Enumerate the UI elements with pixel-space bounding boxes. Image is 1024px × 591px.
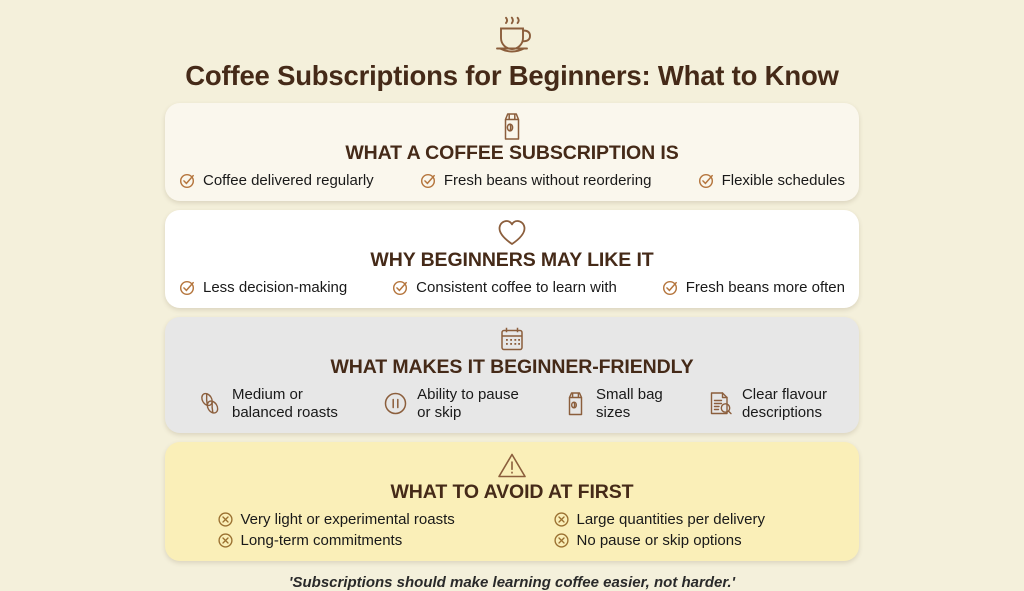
card-what-to-avoid-at-first: WHAT TO AVOID AT FIRST Very light or exp… xyxy=(165,442,859,561)
list-item: Consistent coffee to learn with xyxy=(392,279,617,296)
coffee-beans-icon xyxy=(197,390,224,417)
list-item: Fresh beans without reordering xyxy=(420,172,652,189)
x-circle-icon xyxy=(217,532,234,549)
check-circle-icon xyxy=(698,172,715,189)
card-items-row: Less decision-making Consistent coffee t… xyxy=(179,279,845,296)
list-item-label: Very light or experimental roasts xyxy=(241,511,455,528)
card-what-makes-it-beginner-friendly: WHAT MAKES IT BEGINNER-FRIENDLY xyxy=(165,317,859,433)
list-item-label: Ability to pause or skip xyxy=(417,386,519,421)
coffee-bag-icon xyxy=(498,111,526,141)
check-circle-icon xyxy=(179,172,196,189)
list-item: Less decision-making xyxy=(179,279,347,296)
list-item-label: Clear flavour descriptions xyxy=(742,386,827,421)
heart-icon xyxy=(496,218,528,248)
card-why-beginners-may-like-it: WHY BEGINNERS MAY LIKE IT Less decision-… xyxy=(165,210,859,308)
small-bag-icon xyxy=(563,390,588,417)
check-circle-icon xyxy=(420,172,437,189)
footer-quote: 'Subscriptions should make learning coff… xyxy=(289,574,735,591)
check-circle-icon xyxy=(662,279,679,296)
list-item-label: Fresh beans without reordering xyxy=(444,172,652,189)
card-items-row: Medium or balanced roasts Ability to pau… xyxy=(179,386,845,421)
list-item: No pause or skip options xyxy=(553,532,808,549)
check-circle-icon xyxy=(392,279,409,296)
list-item: Flexible schedules xyxy=(698,172,845,189)
calendar-icon xyxy=(497,325,527,355)
list-item: Long-term commitments xyxy=(217,532,547,549)
list-item: Ability to pause or skip xyxy=(382,386,519,421)
check-circle-icon xyxy=(179,279,196,296)
page-title: Coffee Subscriptions for Beginners: What… xyxy=(185,60,838,92)
card-what-a-coffee-subscription-is: WHAT A COFFEE SUBSCRIPTION IS Coffee del… xyxy=(165,103,859,201)
card-items-grid: Very light or experimental roasts Large … xyxy=(217,511,808,549)
list-item: Medium or balanced roasts xyxy=(197,386,338,421)
list-item: Coffee delivered regularly xyxy=(179,172,374,189)
list-item: Fresh beans more often xyxy=(662,279,845,296)
header: Coffee Subscriptions for Beginners: What… xyxy=(185,12,838,92)
document-search-icon xyxy=(707,390,734,417)
infographic-page: Coffee Subscriptions for Beginners: What… xyxy=(0,0,1024,572)
list-item: Very light or experimental roasts xyxy=(217,511,547,528)
list-item-label: Less decision-making xyxy=(203,279,347,296)
list-item-label: Large quantities per delivery xyxy=(577,511,765,528)
pause-circle-icon xyxy=(382,390,409,417)
card-items-row: Coffee delivered regularly Fresh beans w… xyxy=(179,172,845,189)
cards-container: WHAT A COFFEE SUBSCRIPTION IS Coffee del… xyxy=(165,103,859,561)
coffee-cup-icon xyxy=(484,12,540,58)
card-title: WHAT MAKES IT BEGINNER-FRIENDLY xyxy=(330,356,693,379)
card-title: WHY BEGINNERS MAY LIKE IT xyxy=(370,249,653,272)
list-item-label: Flexible schedules xyxy=(722,172,845,189)
card-title: WHAT A COFFEE SUBSCRIPTION IS xyxy=(345,142,678,165)
list-item-label: Fresh beans more often xyxy=(686,279,845,296)
list-item: Clear flavour descriptions xyxy=(707,386,827,421)
card-title: WHAT TO AVOID AT FIRST xyxy=(391,481,634,504)
x-circle-icon xyxy=(217,511,234,528)
list-item: Large quantities per delivery xyxy=(553,511,808,528)
list-item-label: No pause or skip options xyxy=(577,532,742,549)
list-item-label: Small bag sizes xyxy=(596,386,663,421)
list-item-label: Consistent coffee to learn with xyxy=(416,279,617,296)
list-item: Small bag sizes xyxy=(563,386,663,421)
warning-triangle-icon xyxy=(496,450,528,480)
list-item-label: Medium or balanced roasts xyxy=(232,386,338,421)
list-item-label: Coffee delivered regularly xyxy=(203,172,374,189)
x-circle-icon xyxy=(553,532,570,549)
list-item-label: Long-term commitments xyxy=(241,532,403,549)
x-circle-icon xyxy=(553,511,570,528)
